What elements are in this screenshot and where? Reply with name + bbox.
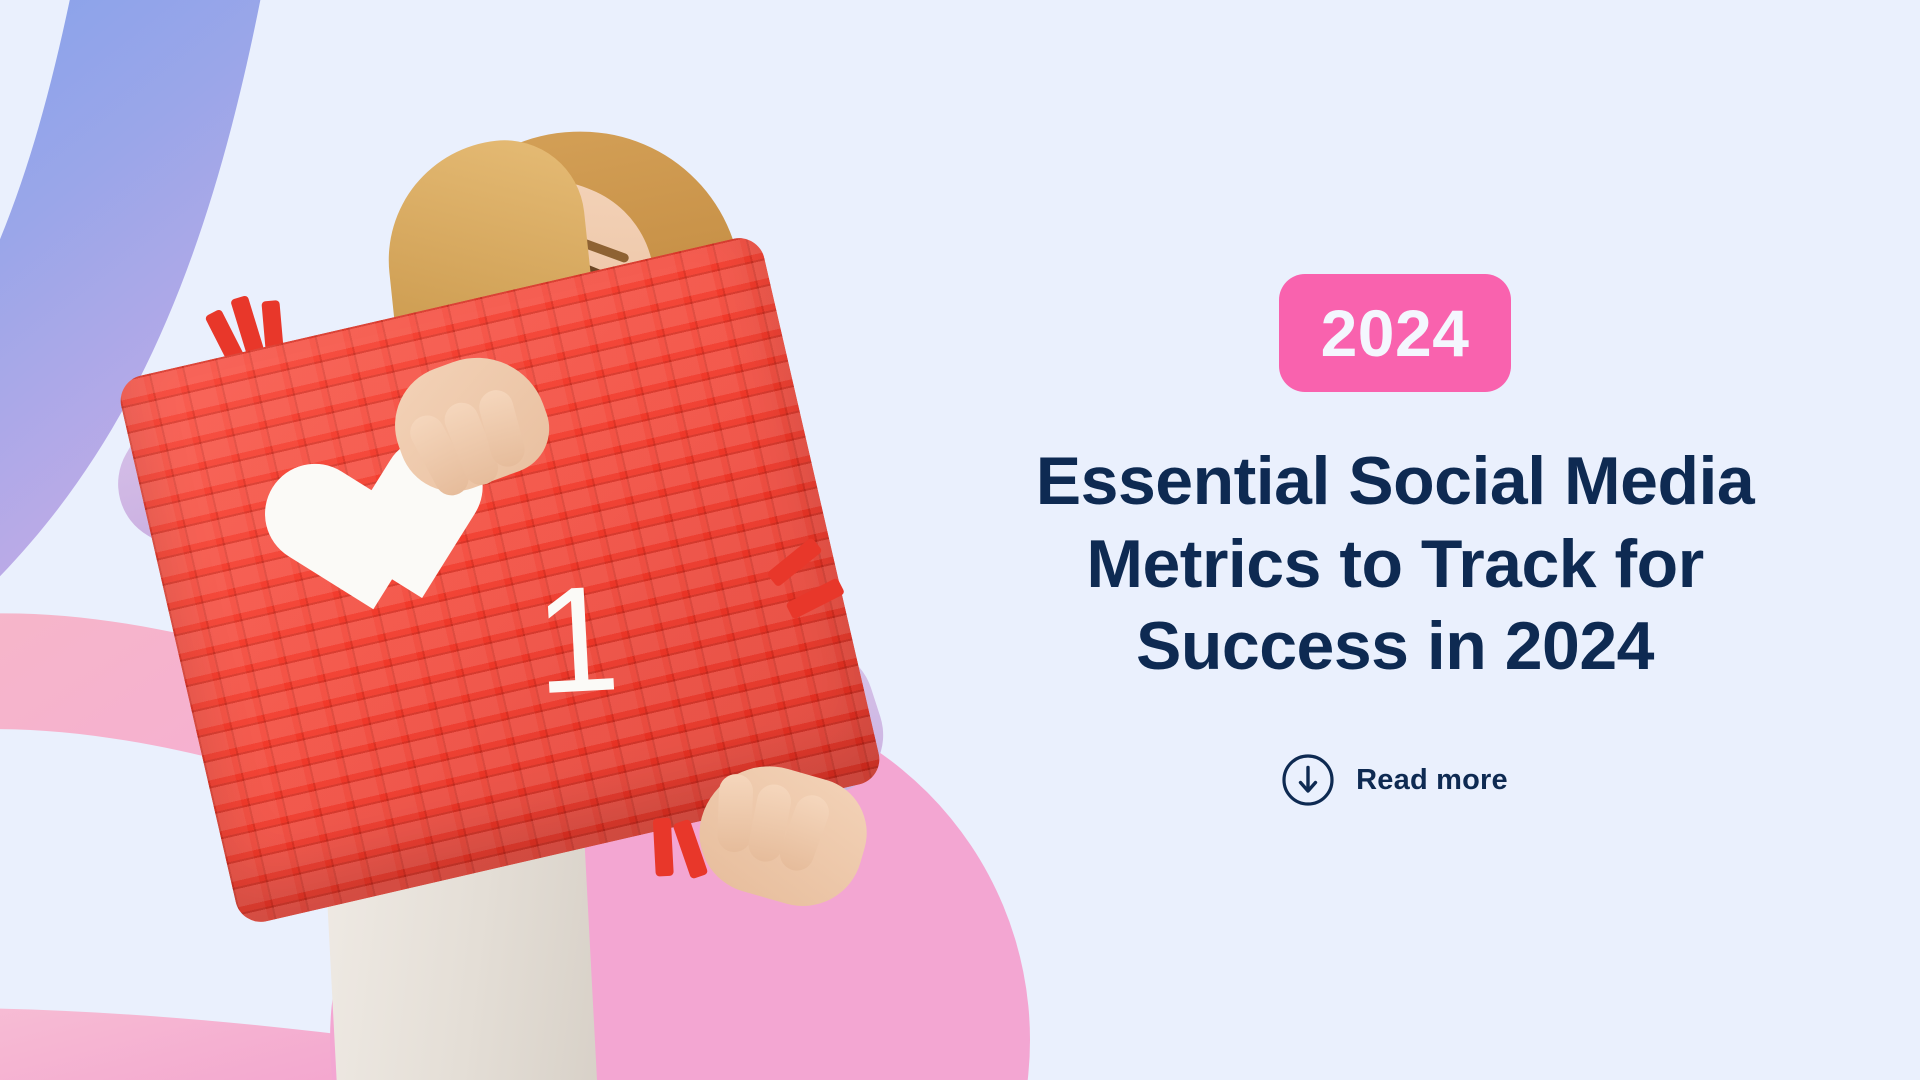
hero-photo: 1: [0, 0, 1060, 1080]
read-more-link[interactable]: Read more: [1282, 754, 1508, 806]
arrow-down-circle-icon[interactable]: [1282, 754, 1334, 806]
page-title: Essential Social Media Metrics to Track …: [1036, 440, 1754, 689]
pinata-fringe: [653, 818, 674, 877]
read-more-label: Read more: [1356, 764, 1508, 797]
headline-line-1: Essential Social Media: [1036, 440, 1754, 523]
content-column: 2024 Essential Social Media Metrics to T…: [995, 0, 1795, 1080]
headline-line-3: Success in 2024: [1036, 605, 1754, 688]
headline-line-2: Metrics to Track for: [1036, 523, 1754, 606]
year-badge: 2024: [1279, 274, 1511, 392]
like-count-label: 1: [531, 562, 622, 716]
promo-banner: 1 2024 Essential Social Media Metrics to…: [0, 0, 1920, 1080]
